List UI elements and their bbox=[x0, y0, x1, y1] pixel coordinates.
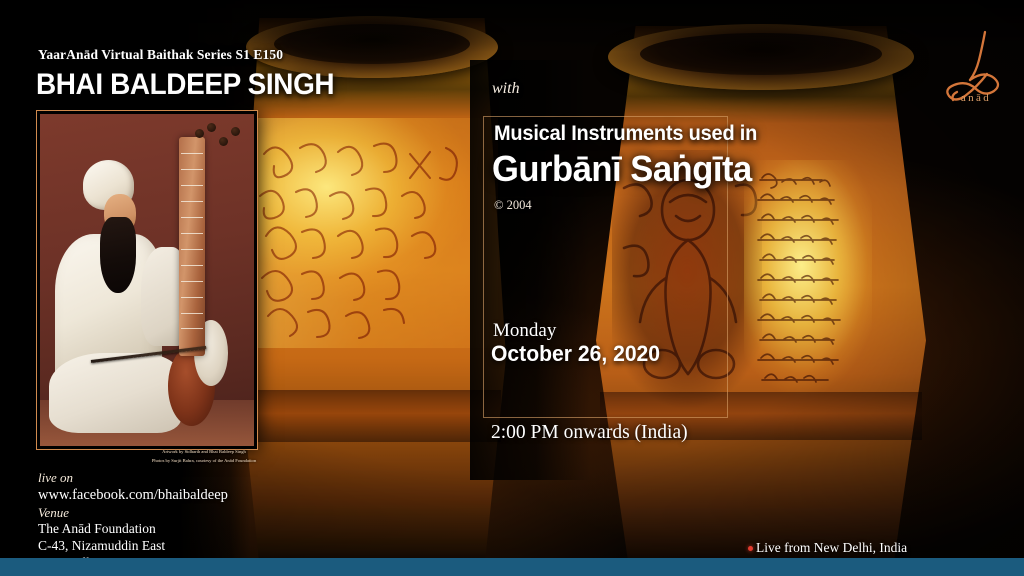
right-drum-manuscript-text bbox=[752, 168, 866, 404]
broadcast-info: live on www.facebook.com/bhaibaldeep bbox=[38, 470, 228, 504]
artwork-credit: Artwork by Sidharth and Bhai Baldeep Sin… bbox=[118, 448, 290, 457]
copyright-notice: © 2004 bbox=[494, 198, 532, 213]
image-credits: Artwork by Sidharth and Bhai Baldeep Sin… bbox=[118, 448, 290, 466]
series-line: YaarAnād Virtual Baithak Series S1 E150 bbox=[38, 47, 283, 63]
artist-portrait-frame bbox=[36, 110, 258, 450]
live-from-location: Live from New Delhi, India bbox=[756, 540, 907, 556]
venue-street: C-43, Nizamuddin East bbox=[38, 538, 182, 555]
title-line-1: Musical Instruments used in bbox=[494, 122, 757, 146]
event-day: Monday bbox=[493, 320, 556, 342]
event-time: 2:00 PM onwards (India) bbox=[491, 422, 688, 444]
left-drum-script-texture bbox=[250, 130, 494, 345]
right-drum-figure-motif bbox=[612, 158, 762, 408]
live-on-label: live on bbox=[38, 470, 228, 486]
live-indicator-dot bbox=[748, 546, 753, 551]
left-drum-lid-opening bbox=[274, 24, 470, 64]
left-drum-band bbox=[243, 390, 501, 442]
artist-portrait-photo bbox=[40, 114, 254, 446]
venue-label: Venue bbox=[38, 505, 182, 521]
facebook-url[interactable]: www.facebook.com/bhaibaldeep bbox=[38, 487, 228, 504]
event-date: October 26, 2020 bbox=[491, 341, 660, 367]
instrument-tuning-pegs bbox=[194, 121, 245, 161]
venue-name: The Anād Foundation bbox=[38, 521, 182, 538]
event-poster: YaarAnād Virtual Baithak Series S1 E150 … bbox=[0, 0, 1024, 576]
with-label: with bbox=[492, 80, 520, 98]
instrument-frets bbox=[181, 147, 202, 346]
photo-credit: Photos by Surjit Bahra, courtesy of the … bbox=[118, 457, 290, 466]
artist-name: BHAI BALDEEP SINGH bbox=[36, 68, 334, 102]
bottom-color-bar bbox=[0, 558, 1024, 576]
anad-logo-wordmark: anād bbox=[944, 92, 1008, 104]
right-drum-lid-opening bbox=[640, 33, 882, 75]
portrait-lap bbox=[49, 353, 182, 433]
portrait-beard bbox=[100, 217, 136, 293]
title-line-2: Gurbānī Saṅgīta bbox=[492, 148, 752, 190]
